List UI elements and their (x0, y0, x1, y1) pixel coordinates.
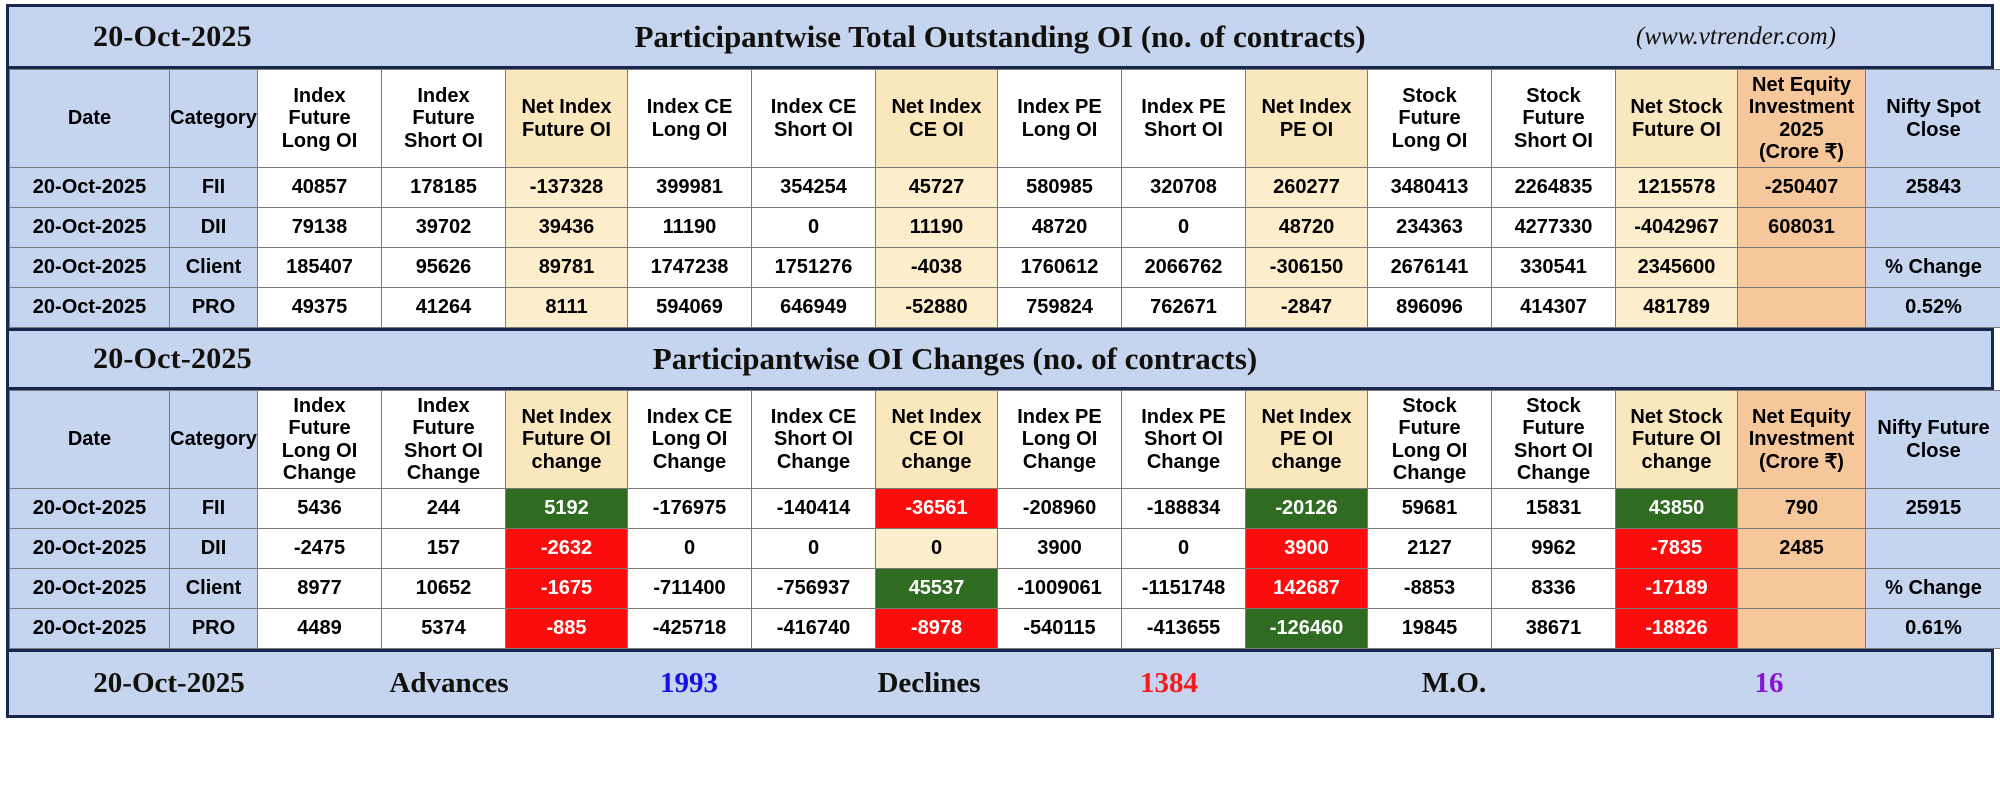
total-outstanding-oi-table: Date Category IndexFutureLong OI IndexFu… (9, 69, 2000, 328)
cell-idx-fut-short-change: 244 (382, 489, 506, 529)
table-row: 20-Oct-2025 DII 79138 39702 39436 11190 … (10, 208, 2000, 248)
cell-stk-fut-long-change: 19845 (1368, 609, 1492, 649)
cell-idx-fut-long: 79138 (258, 208, 382, 248)
cell-net-idx-fut: 39436 (506, 208, 628, 248)
cell-stk-fut-short: 330541 (1492, 248, 1616, 288)
cell-net-idx-pe-change: -20126 (1246, 489, 1368, 529)
th-net-equity-investment: Net EquityInvestment2025(Crore ₹) (1738, 70, 1866, 168)
th-index-ce-short-oi-change: Index CEShort OIChange (752, 391, 876, 489)
cell-idx-ce-long-change: 0 (628, 529, 752, 569)
cell-net-idx-pe-change: 3900 (1246, 529, 1368, 569)
th-nifty-future-close: Nifty FutureClose (1866, 391, 2000, 489)
market-breadth-banner: 20-Oct-2025 Advances 1993 Declines 1384 … (9, 649, 1991, 715)
cell-idx-ce-short: 1751276 (752, 248, 876, 288)
cell-idx-pe-short-change: -188834 (1122, 489, 1246, 529)
cell-idx-ce-long: 399981 (628, 168, 752, 208)
th-date: Date (10, 70, 170, 168)
cell-date: 20-Oct-2025 (10, 569, 170, 609)
cell-idx-ce-long-change: -425718 (628, 609, 752, 649)
cell-date: 20-Oct-2025 (10, 489, 170, 529)
th-index-pe-long-oi-change: Index PELong OIChange (998, 391, 1122, 489)
advances-value: 1993 (569, 667, 809, 700)
declines-value: 1384 (1049, 667, 1289, 700)
cell-nifty-future-close: 25915 (1866, 489, 2000, 529)
cell-idx-ce-short-change: 0 (752, 529, 876, 569)
report-frame: 20-Oct-2025 Participantwise Total Outsta… (6, 4, 1994, 718)
cell-stk-fut-long: 234363 (1368, 208, 1492, 248)
cell-category: Client (170, 248, 258, 288)
cell-idx-fut-long-change: 5436 (258, 489, 382, 529)
th-net-stock-future-oi-change: Net StockFuture OIchange (1616, 391, 1738, 489)
cell-idx-ce-long: 11190 (628, 208, 752, 248)
cell-net-equity (1738, 288, 1866, 328)
cell-idx-pe-short: 2066762 (1122, 248, 1246, 288)
cell-pct-change-value: 0.52% (1866, 288, 2000, 328)
cell-idx-pe-short: 762671 (1122, 288, 1246, 328)
cell-net-stk-fut: 481789 (1616, 288, 1738, 328)
cell-stk-fut-long-change: 2127 (1368, 529, 1492, 569)
footer-date: 20-Oct-2025 (9, 667, 329, 700)
cell-idx-ce-short: 0 (752, 208, 876, 248)
cell-idx-pe-long-change: -1009061 (998, 569, 1122, 609)
cell-net-equity: 608031 (1738, 208, 1866, 248)
cell-net-idx-pe-change: 142687 (1246, 569, 1368, 609)
cell-date: 20-Oct-2025 (10, 248, 170, 288)
cell-date: 20-Oct-2025 (10, 609, 170, 649)
th-date: Date (10, 391, 170, 489)
cell-net-equity: 790 (1738, 489, 1866, 529)
cell-net-idx-ce-change: -36561 (876, 489, 998, 529)
th-net-stock-future-oi: Net StockFuture OI (1616, 70, 1738, 168)
cell-nifty-close: 25843 (1866, 168, 2000, 208)
cell-category: FII (170, 489, 258, 529)
th-index-pe-short-oi-change: Index PEShort OIChange (1122, 391, 1246, 489)
cell-date: 20-Oct-2025 (10, 529, 170, 569)
cell-category: PRO (170, 288, 258, 328)
cell-pct-change-label: % Change (1866, 569, 2000, 609)
declines-label: Declines (809, 667, 1049, 700)
cell-idx-ce-long: 1747238 (628, 248, 752, 288)
cell-idx-ce-long-change: -711400 (628, 569, 752, 609)
cell-idx-pe-long: 580985 (998, 168, 1122, 208)
th-net-index-future-oi-change: Net IndexFuture OIchange (506, 391, 628, 489)
cell-net-idx-ce-change: 0 (876, 529, 998, 569)
cell-idx-pe-long: 48720 (998, 208, 1122, 248)
table1-banner: 20-Oct-2025 Participantwise Total Outsta… (9, 7, 1991, 69)
th-net-index-ce-oi-change: Net IndexCE OIchange (876, 391, 998, 489)
th-index-pe-short-oi: Index PEShort OI (1122, 70, 1246, 168)
cell-stk-fut-long: 896096 (1368, 288, 1492, 328)
cell-net-idx-pe: -306150 (1246, 248, 1368, 288)
cell-stk-fut-short: 414307 (1492, 288, 1616, 328)
cell-idx-fut-short-change: 157 (382, 529, 506, 569)
cell-stk-fut-short: 2264835 (1492, 168, 1616, 208)
cell-net-idx-fut-change: 5192 (506, 489, 628, 529)
cell-stk-fut-long: 2676141 (1368, 248, 1492, 288)
th-index-future-short-oi-change: IndexFutureShort OIChange (382, 391, 506, 489)
cell-net-idx-pe: 260277 (1246, 168, 1368, 208)
cell-net-idx-fut-change: -2632 (506, 529, 628, 569)
market-outlook-value: 16 (1619, 667, 1919, 700)
table-row: 20-Oct-2025 PRO 49375 41264 8111 594069 … (10, 288, 2000, 328)
th-index-future-long-oi-change: IndexFutureLong OIChange (258, 391, 382, 489)
cell-net-idx-fut-change: -885 (506, 609, 628, 649)
cell-category: Client (170, 569, 258, 609)
cell-idx-pe-long-change: -208960 (998, 489, 1122, 529)
th-category: Category (170, 391, 258, 489)
table2-banner-title: Participantwise OI Changes (no. of contr… (9, 341, 1991, 377)
cell-idx-ce-long-change: -176975 (628, 489, 752, 529)
cell-idx-fut-long-change: 4489 (258, 609, 382, 649)
cell-net-idx-pe: 48720 (1246, 208, 1368, 248)
cell-idx-fut-long: 185407 (258, 248, 382, 288)
cell-idx-fut-short: 95626 (382, 248, 506, 288)
cell-idx-ce-short-change: -140414 (752, 489, 876, 529)
cell-idx-pe-short-change: -413655 (1122, 609, 1246, 649)
cell-idx-fut-long: 49375 (258, 288, 382, 328)
cell-stk-fut-long-change: 59681 (1368, 489, 1492, 529)
cell-net-stk-fut: 1215578 (1616, 168, 1738, 208)
cell-idx-fut-short: 178185 (382, 168, 506, 208)
cell-idx-pe-short: 320708 (1122, 168, 1246, 208)
cell-net-idx-ce: 11190 (876, 208, 998, 248)
cell-net-equity: -250407 (1738, 168, 1866, 208)
th-net-index-pe-oi: Net IndexPE OI (1246, 70, 1368, 168)
cell-date: 20-Oct-2025 (10, 208, 170, 248)
oi-report-page: 20-Oct-2025 Participantwise Total Outsta… (0, 0, 2000, 798)
th-index-ce-short-oi: Index CEShort OI (752, 70, 876, 168)
cell-stk-fut-short-change: 9962 (1492, 529, 1616, 569)
table-row: 20-Oct-2025 FII 5436 244 5192 -176975 -1… (10, 489, 2000, 529)
th-nifty-spot-close: Nifty SpotClose (1866, 70, 2000, 168)
cell-net-idx-pe-change: -126460 (1246, 609, 1368, 649)
th-net-index-pe-oi-change: Net IndexPE OIchange (1246, 391, 1368, 489)
cell-idx-pe-long: 1760612 (998, 248, 1122, 288)
market-outlook-label: M.O. (1289, 667, 1619, 700)
cell-net-idx-ce-change: -8978 (876, 609, 998, 649)
th-index-pe-long-oi: Index PELong OI (998, 70, 1122, 168)
cell-idx-ce-short-change: -756937 (752, 569, 876, 609)
cell-net-stk-fut: -4042967 (1616, 208, 1738, 248)
cell-stk-fut-short-change: 8336 (1492, 569, 1616, 609)
th-index-ce-long-oi-change: Index CELong OIChange (628, 391, 752, 489)
oi-changes-table: Date Category IndexFutureLong OIChange I… (9, 390, 2000, 649)
cell-idx-fut-short-change: 10652 (382, 569, 506, 609)
cell-net-idx-pe: -2847 (1246, 288, 1368, 328)
table-row: 20-Oct-2025 FII 40857 178185 -137328 399… (10, 168, 2000, 208)
table-row: 20-Oct-2025 Client 185407 95626 89781 17… (10, 248, 2000, 288)
cell-net-stk-fut-change: -18826 (1616, 609, 1738, 649)
cell-category: DII (170, 208, 258, 248)
th-category: Category (170, 70, 258, 168)
th-stock-future-long-oi-change: StockFutureLong OIChange (1368, 391, 1492, 489)
cell-idx-pe-long-change: -540115 (998, 609, 1122, 649)
cell-idx-fut-long-change: -2475 (258, 529, 382, 569)
cell-stk-fut-short: 4277330 (1492, 208, 1616, 248)
advances-label: Advances (329, 667, 569, 700)
cell-pct-change-value: 0.61% (1866, 609, 2000, 649)
cell-stk-fut-short-change: 15831 (1492, 489, 1616, 529)
cell-idx-pe-long: 759824 (998, 288, 1122, 328)
cell-net-idx-fut-change: -1675 (506, 569, 628, 609)
cell-category: FII (170, 168, 258, 208)
table-row: 20-Oct-2025 Client 8977 10652 -1675 -711… (10, 569, 2000, 609)
cell-date: 20-Oct-2025 (10, 288, 170, 328)
th-net-index-future-oi: Net IndexFuture OI (506, 70, 628, 168)
table1-header-row: Date Category IndexFutureLong OI IndexFu… (10, 70, 2000, 168)
cell-date: 20-Oct-2025 (10, 168, 170, 208)
cell-category: PRO (170, 609, 258, 649)
cell-idx-pe-short: 0 (1122, 208, 1246, 248)
cell-idx-ce-short: 354254 (752, 168, 876, 208)
cell-idx-ce-long: 594069 (628, 288, 752, 328)
cell-idx-pe-short-change: -1151748 (1122, 569, 1246, 609)
th-stock-future-short-oi-change: StockFutureShort OIChange (1492, 391, 1616, 489)
cell-net-stk-fut-change: -7835 (1616, 529, 1738, 569)
cell-idx-fut-short: 39702 (382, 208, 506, 248)
th-index-future-long-oi: IndexFutureLong OI (258, 70, 382, 168)
cell-net-equity (1738, 569, 1866, 609)
th-net-equity-investment: Net EquityInvestment(Crore ₹) (1738, 391, 1866, 489)
cell-net-stk-fut-change: -17189 (1616, 569, 1738, 609)
cell-net-equity (1738, 609, 1866, 649)
cell-net-equity (1738, 248, 1866, 288)
cell-pct-change-label: % Change (1866, 248, 2000, 288)
cell-net-idx-fut: 8111 (506, 288, 628, 328)
cell-idx-fut-long: 40857 (258, 168, 382, 208)
cell-net-stk-fut: 2345600 (1616, 248, 1738, 288)
cell-stk-fut-long-change: -8853 (1368, 569, 1492, 609)
cell-idx-fut-short-change: 5374 (382, 609, 506, 649)
th-index-ce-long-oi: Index CELong OI (628, 70, 752, 168)
cell-idx-pe-short-change: 0 (1122, 529, 1246, 569)
cell-idx-fut-short: 41264 (382, 288, 506, 328)
th-net-index-ce-oi: Net IndexCE OI (876, 70, 998, 168)
cell-net-stk-fut-change: 43850 (1616, 489, 1738, 529)
cell-idx-ce-short: 646949 (752, 288, 876, 328)
cell-stk-fut-long: 3480413 (1368, 168, 1492, 208)
th-stock-future-long-oi: StockFutureLong OI (1368, 70, 1492, 168)
cell-net-idx-ce: -4038 (876, 248, 998, 288)
table-row: 20-Oct-2025 PRO 4489 5374 -885 -425718 -… (10, 609, 2000, 649)
cell-idx-ce-short-change: -416740 (752, 609, 876, 649)
cell-nifty-close (1866, 208, 2000, 248)
table2-header-row: Date Category IndexFutureLong OIChange I… (10, 391, 2000, 489)
table-row: 20-Oct-2025 DII -2475 157 -2632 0 0 0 39… (10, 529, 2000, 569)
cell-idx-pe-long-change: 3900 (998, 529, 1122, 569)
th-index-future-short-oi: IndexFutureShort OI (382, 70, 506, 168)
cell-net-idx-ce: 45727 (876, 168, 998, 208)
cell-idx-fut-long-change: 8977 (258, 569, 382, 609)
cell-net-idx-ce-change: 45537 (876, 569, 998, 609)
cell-net-idx-fut: -137328 (506, 168, 628, 208)
cell-net-idx-fut: 89781 (506, 248, 628, 288)
cell-stk-fut-short-change: 38671 (1492, 609, 1616, 649)
cell-nifty-future-close (1866, 529, 2000, 569)
cell-category: DII (170, 529, 258, 569)
table2-banner: 20-Oct-2025 Participantwise OI Changes (… (9, 328, 1991, 390)
site-url: (www.vtrender.com) (1636, 23, 1836, 51)
cell-net-equity: 2485 (1738, 529, 1866, 569)
cell-net-idx-ce: -52880 (876, 288, 998, 328)
th-stock-future-short-oi: StockFutureShort OI (1492, 70, 1616, 168)
